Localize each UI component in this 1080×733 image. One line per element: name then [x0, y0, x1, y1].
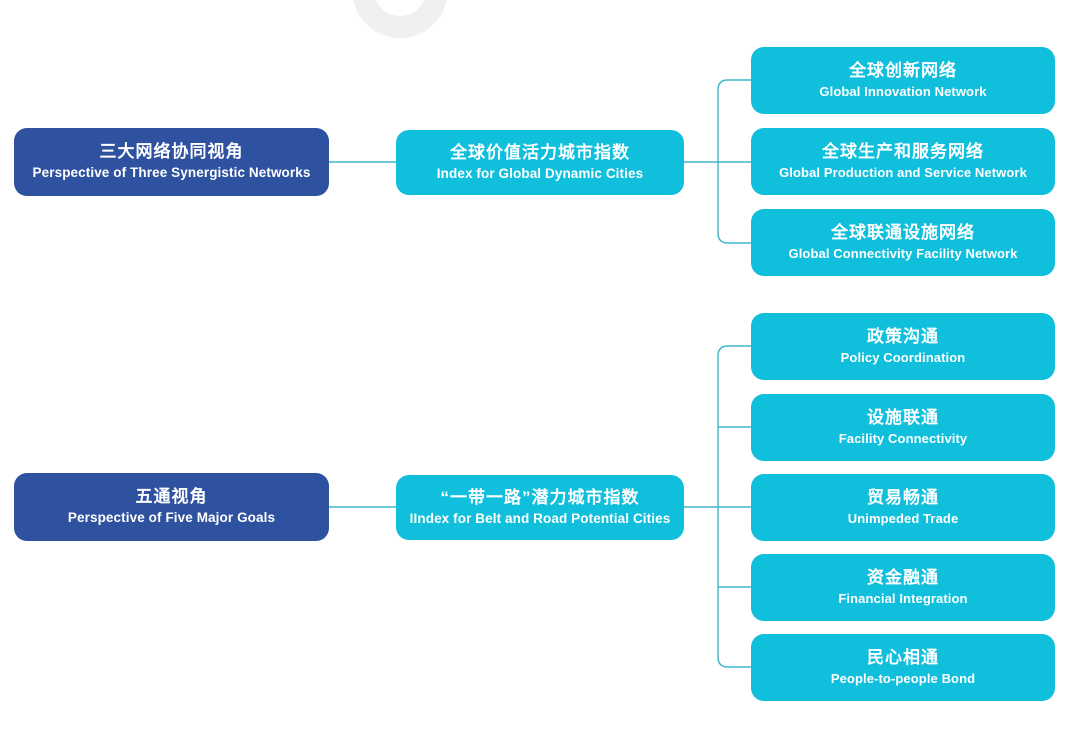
- leaf-box-financial-integration[interactable]: 资金融通 Financial Integration: [751, 554, 1055, 621]
- leaf-title-en: Financial Integration: [838, 591, 967, 607]
- leaf-title-en: Global Innovation Network: [819, 84, 986, 100]
- perspective-title-en: Perspective of Three Synergistic Network…: [33, 165, 311, 181]
- perspective-box-three-networks[interactable]: 三大网络协同视角 Perspective of Three Synergisti…: [14, 128, 329, 196]
- leaf-box-global-innovation-network[interactable]: 全球创新网络 Global Innovation Network: [751, 47, 1055, 114]
- leaf-title-cn: 民心相通: [867, 648, 939, 669]
- leaf-title-en: Unimpeded Trade: [848, 511, 959, 527]
- index-box-global-dynamic-cities[interactable]: 全球价值活力城市指数 Index for Global Dynamic Citi…: [396, 130, 684, 195]
- leaf-box-policy-coordination[interactable]: 政策沟通 Policy Coordination: [751, 313, 1055, 380]
- connector-b1-bracket: [718, 80, 751, 243]
- leaf-title-en: People-to-people Bond: [831, 671, 975, 687]
- leaf-title-en: Facility Connectivity: [839, 431, 968, 447]
- leaf-title-cn: 贸易畅通: [867, 488, 939, 509]
- leaf-title-cn: 全球创新网络: [849, 61, 957, 82]
- leaf-title-cn: 全球生产和服务网络: [822, 142, 984, 163]
- leaf-title-en: Global Production and Service Network: [779, 165, 1027, 181]
- leaf-title-en: Global Connectivity Facility Network: [789, 246, 1018, 262]
- leaf-title-cn: 政策沟通: [867, 327, 939, 348]
- perspective-box-five-major-goals[interactable]: 五通视角 Perspective of Five Major Goals: [14, 473, 329, 541]
- leaf-title-cn: 资金融通: [867, 568, 939, 589]
- perspective-title-en: Perspective of Five Major Goals: [68, 510, 275, 526]
- leaf-title-en: Policy Coordination: [841, 350, 966, 366]
- index-box-belt-and-road-potential-cities[interactable]: “一带一路”潜力城市指数 IIndex for Belt and Road Po…: [396, 475, 684, 540]
- index-title-cn: “一带一路”潜力城市指数: [441, 488, 640, 509]
- index-title-en: Index for Global Dynamic Cities: [437, 166, 643, 182]
- index-title-cn: 全球价值活力城市指数: [450, 143, 630, 164]
- leaf-box-unimpeded-trade[interactable]: 贸易畅通 Unimpeded Trade: [751, 474, 1055, 541]
- leaf-title-cn: 设施联通: [867, 408, 939, 429]
- leaf-box-global-connectivity-facility-network[interactable]: 全球联通设施网络 Global Connectivity Facility Ne…: [751, 209, 1055, 276]
- leaf-title-cn: 全球联通设施网络: [831, 223, 975, 244]
- perspective-title-cn: 五通视角: [136, 487, 208, 508]
- perspective-title-cn: 三大网络协同视角: [100, 142, 244, 163]
- index-title-en: IIndex for Belt and Road Potential Citie…: [410, 511, 671, 527]
- connector-b2-bracket: [718, 346, 751, 667]
- leaf-box-facility-connectivity[interactable]: 设施联通 Facility Connectivity: [751, 394, 1055, 461]
- leaf-box-people-to-people-bond[interactable]: 民心相通 People-to-people Bond: [751, 634, 1055, 701]
- leaf-box-global-production-service-network[interactable]: 全球生产和服务网络 Global Production and Service …: [751, 128, 1055, 195]
- diagram-canvas: 三大网络协同视角 Perspective of Three Synergisti…: [0, 0, 1080, 733]
- watermark-ring-icon: [352, 0, 448, 38]
